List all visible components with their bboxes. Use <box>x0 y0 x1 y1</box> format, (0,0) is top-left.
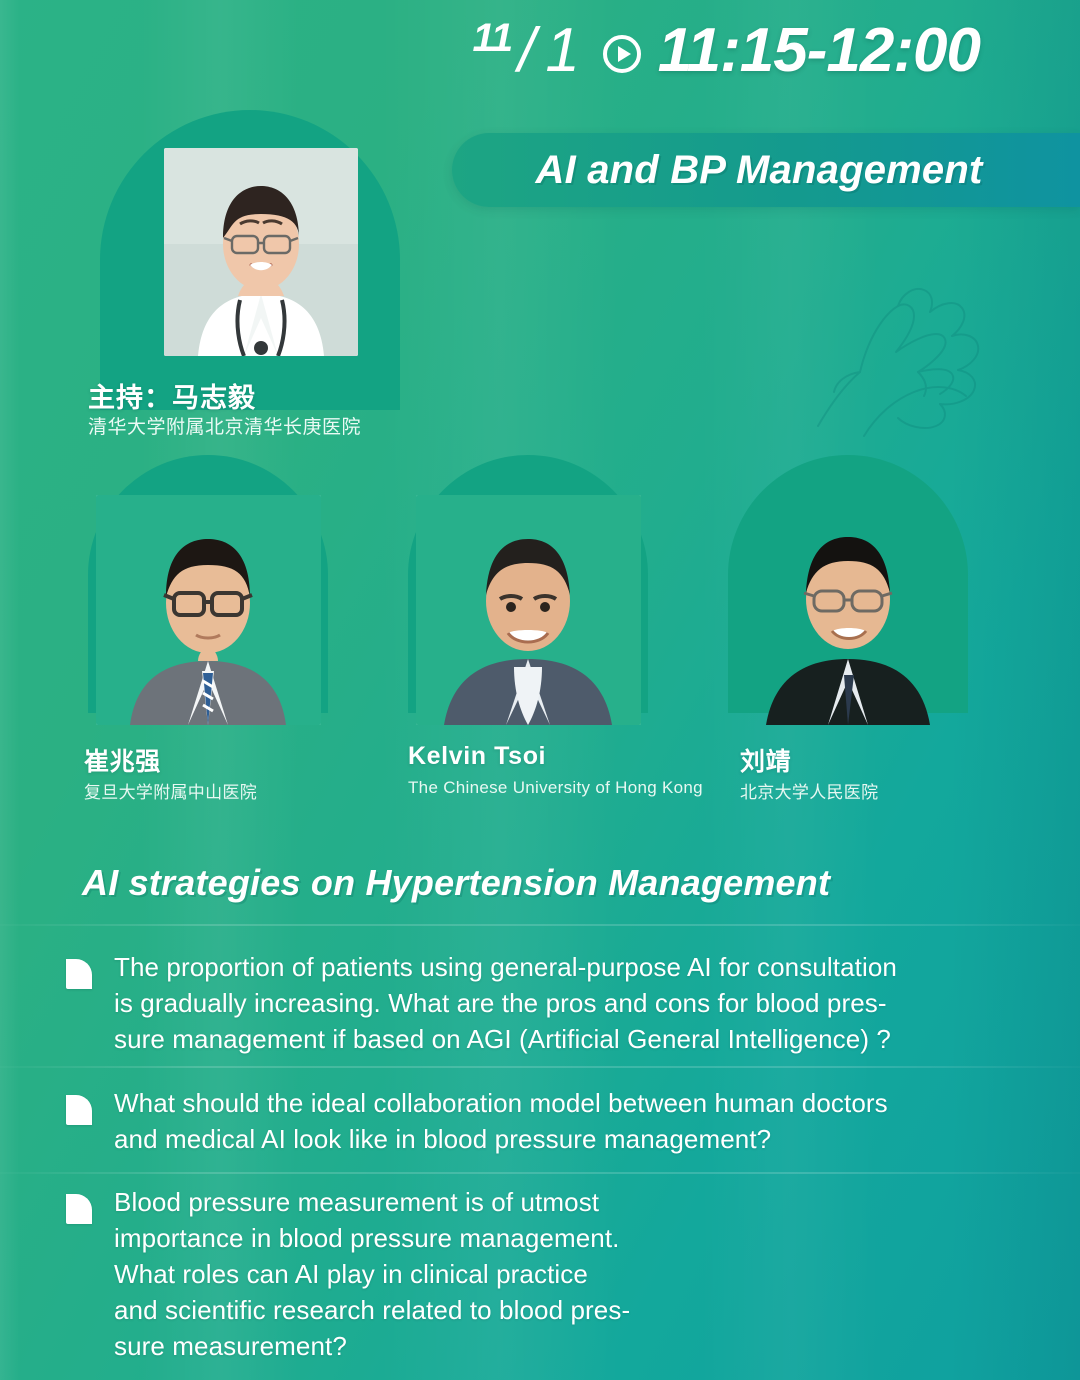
play-circle-icon <box>602 34 642 74</box>
poster-canvas: 11 / 1 11:15-12:00 AI and BP Management <box>0 0 1080 1380</box>
topic-text: Blood pressure measurement is of utmost … <box>114 1185 630 1364</box>
page-corner-icon <box>66 959 92 989</box>
speaker-portrait-illustration <box>96 495 321 725</box>
topic-item: What should the ideal collaboration mode… <box>0 1074 1080 1174</box>
topic-text: What should the ideal collaboration mode… <box>114 1086 888 1158</box>
speaker-portrait-illustration <box>736 495 961 725</box>
session-title-text: AI and BP Management <box>535 148 996 193</box>
speaker-affiliation-1: 复旦大学附属中山医院 <box>84 778 257 803</box>
speaker-card-1 <box>60 455 352 725</box>
speaker-card-3 <box>700 455 992 725</box>
moderator-affiliation: 清华大学附属北京清华长庚医院 <box>88 412 361 439</box>
date-month: 11 <box>473 18 513 58</box>
moderator-avatar <box>164 148 358 356</box>
section-heading: AI strategies on Hypertension Management <box>82 862 830 904</box>
speaker-avatar-1 <box>96 495 321 725</box>
section-divider <box>0 924 1080 926</box>
topic-item: Blood pressure measurement is of utmost … <box>0 1173 1080 1380</box>
speaker-card-2 <box>380 455 672 725</box>
speaker-name-2: Kelvin Tsoi <box>408 742 546 771</box>
hands-forming-heart-icon <box>802 276 1052 456</box>
speaker-portrait-illustration <box>416 495 641 725</box>
topic-text: The proportion of patients using general… <box>114 950 897 1058</box>
speaker-avatar-3 <box>736 495 961 725</box>
date-day: 1 <box>545 20 579 82</box>
page-corner-icon <box>66 1095 92 1125</box>
topic-list: The proportion of patients using general… <box>0 938 1080 1380</box>
speaker-affiliation-2: The Chinese University of Hong Kong <box>408 778 703 798</box>
session-title-banner: AI and BP Management <box>452 133 1080 207</box>
moderator-name: 主持：马志毅 <box>88 376 256 415</box>
date-time-line: 11 / 1 11:15-12:00 <box>473 22 980 84</box>
moderator-portrait-illustration <box>164 148 358 356</box>
speaker-avatar-2 <box>416 495 641 725</box>
date-separator: / <box>518 20 535 82</box>
session-time-range: 11:15-12:00 <box>658 20 980 82</box>
topic-item: The proportion of patients using general… <box>0 938 1080 1074</box>
poster-header: 11 / 1 11:15-12:00 <box>0 0 1080 120</box>
speaker-name-1: 崔兆强 <box>84 742 161 778</box>
speaker-name-3: 刘靖 <box>740 742 791 778</box>
page-corner-icon <box>66 1194 92 1224</box>
speaker-affiliation-3: 北京大学人民医院 <box>740 778 878 803</box>
